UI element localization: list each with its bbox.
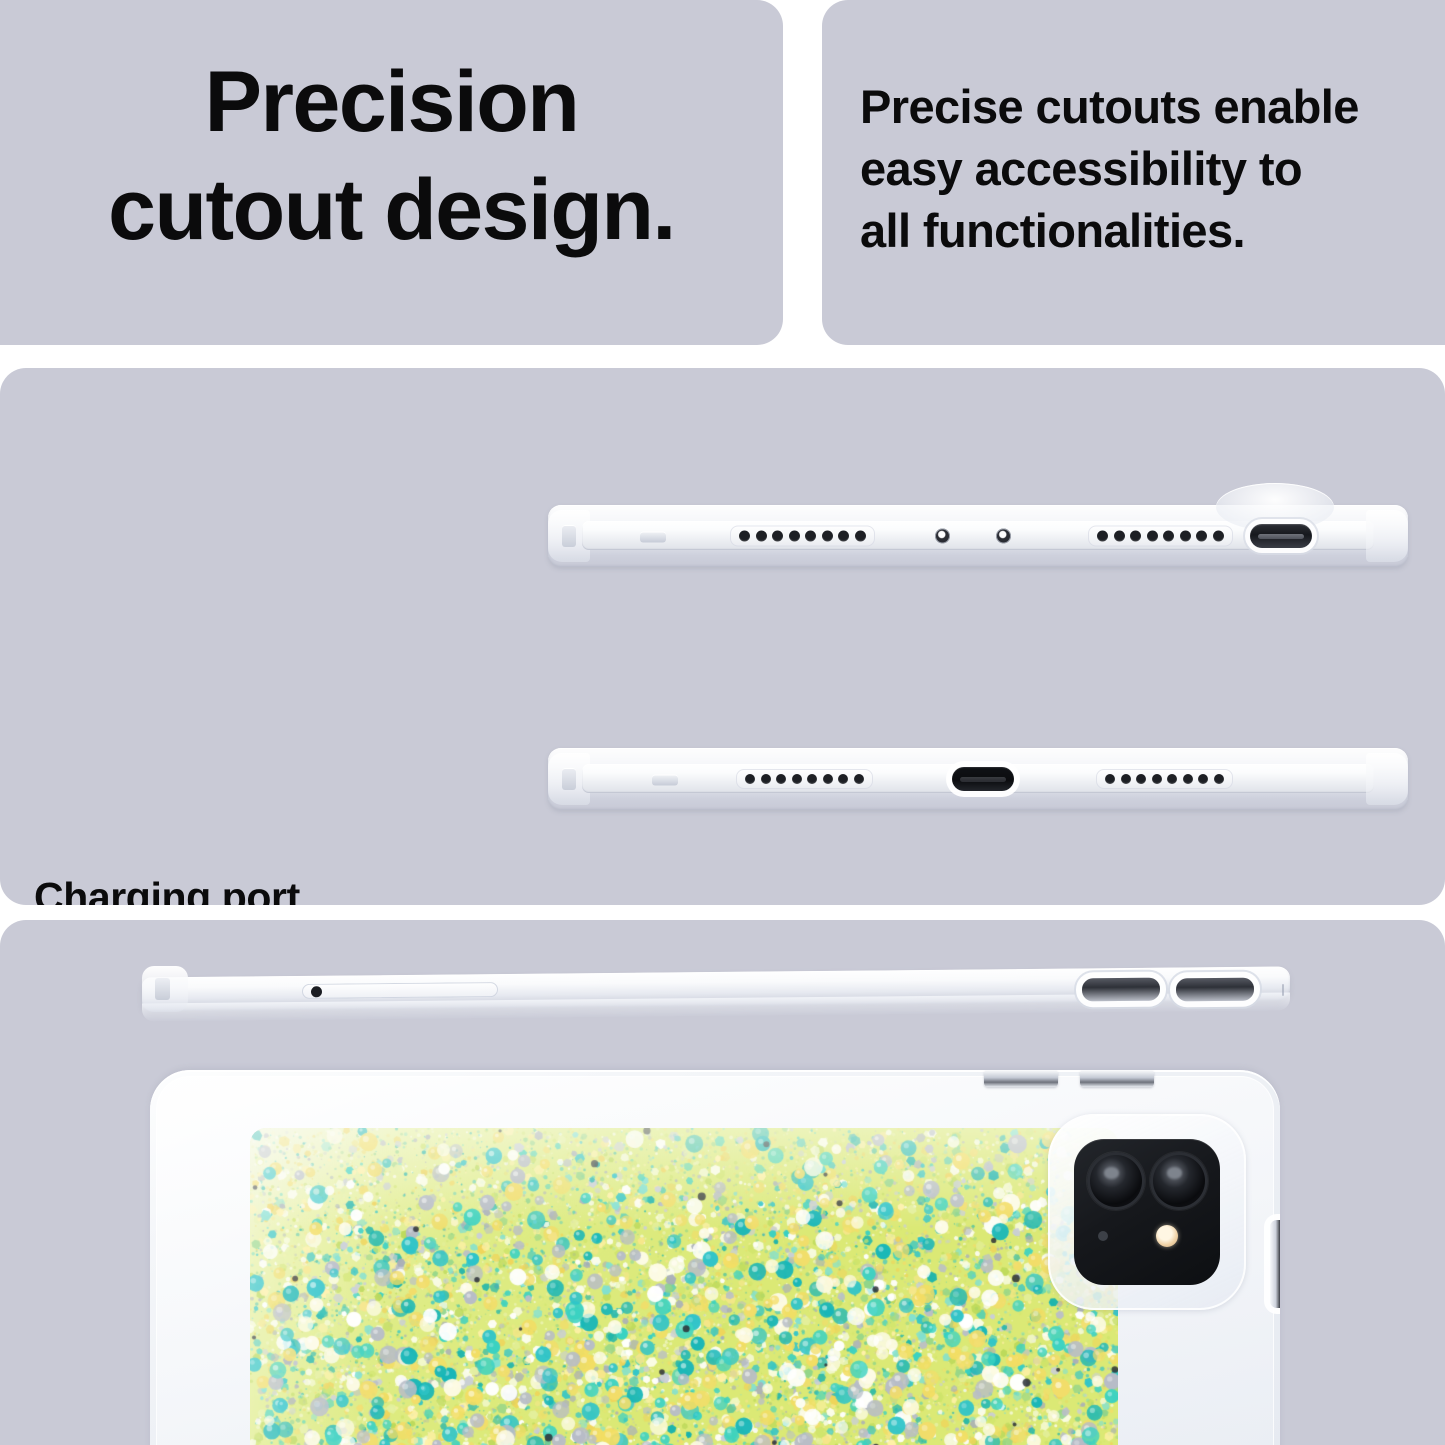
microphone-pinhole-1 — [935, 529, 950, 544]
power-button-side — [1270, 1220, 1280, 1308]
subcopy-line-2: easy accessibility to — [860, 138, 1425, 200]
subcopy-line-3: all functionalities. — [860, 200, 1425, 262]
page-title: Precision cutout design. — [0, 48, 783, 265]
charging-port-label: Charging port — [34, 874, 300, 905]
microphone-icon — [1098, 1231, 1108, 1241]
usb-c-charging-port-center — [952, 767, 1014, 791]
subcopy-line-1: Precise cutouts enable — [860, 76, 1425, 138]
smart-connector — [652, 775, 678, 786]
case-side-profile-view — [142, 958, 1290, 1030]
headline-panel: Precision cutout design. — [0, 0, 783, 345]
top-volume-buttons — [984, 1070, 1154, 1087]
glitter-texture — [250, 1128, 1118, 1445]
tablet-bottom-edge-view — [548, 748, 1408, 810]
camera-plate — [1074, 1139, 1220, 1285]
dual-camera-module — [1048, 1114, 1246, 1310]
volume-button-top-2 — [1080, 1070, 1154, 1087]
volume-button-cutout-2 — [1176, 978, 1254, 1002]
case-showcase-panel — [0, 920, 1445, 1445]
headline-line-1: Precision — [22, 48, 761, 156]
product-feature-page: Precision cutout design. Precise cutouts… — [0, 0, 1445, 1445]
case-right-cap — [1366, 510, 1408, 562]
subcopy-text: Precise cutouts enable easy accessibilit… — [860, 76, 1425, 262]
camera-lens-2 — [1150, 1152, 1208, 1210]
flash-icon — [1156, 1225, 1178, 1247]
case-right-cap — [1366, 753, 1408, 805]
headline-line-2: cutout design. — [22, 156, 761, 264]
usb-c-charging-port — [1250, 524, 1312, 548]
case-left-notch — [562, 768, 576, 790]
case-profile-left-notch — [155, 978, 170, 1000]
profile-edge-mark — [1282, 984, 1284, 996]
camera-lens-1 — [1087, 1152, 1145, 1210]
subcopy-panel: Precise cutouts enable easy accessibilit… — [822, 0, 1445, 345]
glitter-tablet-case — [150, 1070, 1280, 1445]
speaker-grille-left — [736, 769, 873, 789]
charging-port-panel: Charging port — [0, 368, 1445, 905]
speaker-grille-right — [1096, 769, 1233, 789]
sim-tray — [302, 982, 498, 999]
speaker-grille-left — [730, 526, 875, 547]
speaker-grille-right — [1088, 526, 1233, 547]
tablet-top-edge-view — [548, 505, 1408, 567]
microphone-pinhole-2 — [996, 529, 1011, 544]
volume-button-cutout-1 — [1082, 978, 1160, 1002]
liquid-glitter-back — [250, 1128, 1118, 1445]
smart-connector — [640, 532, 666, 543]
volume-button-top-1 — [984, 1070, 1058, 1087]
case-left-notch — [562, 525, 576, 547]
